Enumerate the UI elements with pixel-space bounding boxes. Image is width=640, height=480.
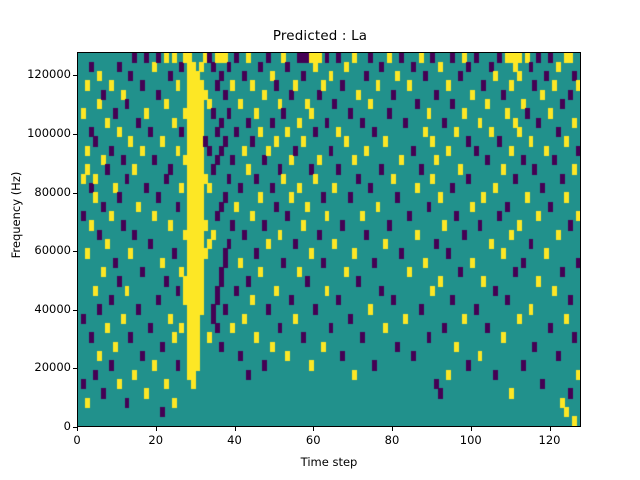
matplotlib-figure: Predicted : La Frequency (Hz) Time step … [0,0,640,480]
x-tick-mark [550,427,551,431]
y-tick-mark [73,310,77,311]
y-tick-label: 40000 [34,302,71,316]
x-tick-mark [235,427,236,431]
x-tick-mark [77,427,78,431]
y-tick-label: 120000 [27,67,71,81]
y-tick-mark [73,193,77,194]
x-tick-label: 40 [215,433,255,447]
y-tick-mark [73,134,77,135]
y-tick-mark [73,368,77,369]
x-tick-label: 120 [530,433,570,447]
y-tick-label: 0 [64,419,71,433]
y-tick-label: 100000 [27,126,71,140]
x-tick-mark [471,427,472,431]
heatmap-canvas [78,53,580,426]
x-tick-label: 60 [293,433,333,447]
x-axis-label: Time step [77,455,581,469]
x-tick-mark [392,427,393,431]
x-tick-mark [156,427,157,431]
y-tick-label: 60000 [34,243,71,257]
x-tick-label: 80 [372,433,412,447]
x-tick-mark [313,427,314,431]
x-tick-label: 0 [57,433,97,447]
x-tick-label: 20 [136,433,176,447]
page-title: Predicted : La [0,29,640,44]
y-tick-mark [73,251,77,252]
y-tick-mark [73,75,77,76]
y-axis-label: Frequency (Hz) [9,105,23,325]
heatmap-plot-area[interactable] [77,52,581,427]
y-tick-label: 80000 [34,185,71,199]
x-tick-label: 100 [451,433,491,447]
y-tick-label: 20000 [34,360,71,374]
